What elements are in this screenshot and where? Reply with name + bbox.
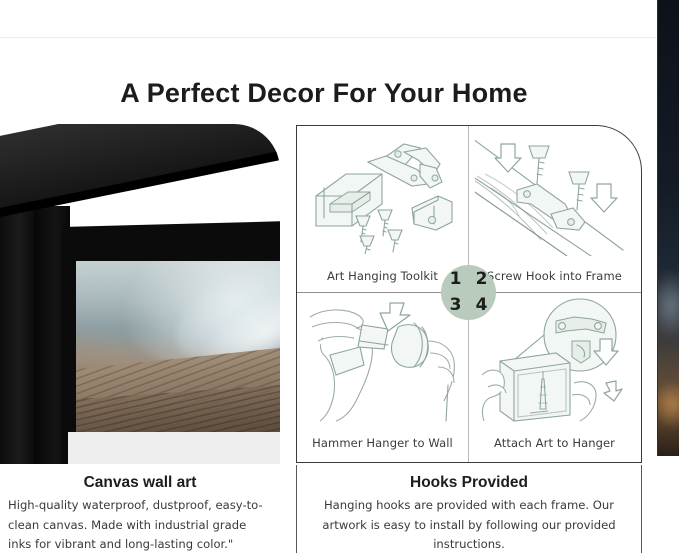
side-image-glow-upper — [657, 270, 679, 340]
feature-block-hooks: Hooks Provided Hanging hooks are provide… — [296, 465, 642, 553]
feature-block-canvas: Canvas wall art High-quality waterproof,… — [0, 465, 280, 553]
product-detail-image: A Perfect Decor For Your Home — [0, 0, 679, 553]
canvas-lower-mat — [68, 432, 280, 464]
frame-left-side — [0, 186, 36, 464]
feature-title-canvas: Canvas wall art — [8, 472, 272, 493]
instruction-step-4-caption: Attach Art to Hanger — [469, 436, 640, 450]
feature-body-hooks: Hanging hooks are provided with each fra… — [307, 496, 631, 553]
feature-body-canvas: High-quality waterproof, dustproof, easy… — [8, 496, 272, 553]
side-image-glow-lower — [657, 380, 679, 430]
badge-number-2: 2 — [468, 266, 495, 293]
instruction-grid: Art Hanging Toolkit — [296, 125, 642, 463]
side-image-crop — [657, 0, 679, 456]
framed-canvas-photo — [0, 124, 280, 464]
instruction-step-3-caption: Hammer Hanger to Wall — [297, 436, 468, 450]
badge-number-1: 1 — [442, 266, 469, 293]
page-title: A Perfect Decor For Your Home — [0, 76, 648, 110]
canvas-artwork — [76, 261, 280, 433]
canvas-photo-inner — [0, 124, 280, 464]
badge-number-4: 4 — [468, 292, 495, 319]
step-number-badge: 1 2 3 4 — [441, 265, 496, 320]
badge-number-3: 3 — [442, 292, 469, 319]
toolkit-icon — [297, 130, 468, 256]
top-divider — [0, 37, 660, 38]
feature-title-hooks: Hooks Provided — [307, 472, 631, 493]
screw-hook-icon — [469, 130, 640, 256]
